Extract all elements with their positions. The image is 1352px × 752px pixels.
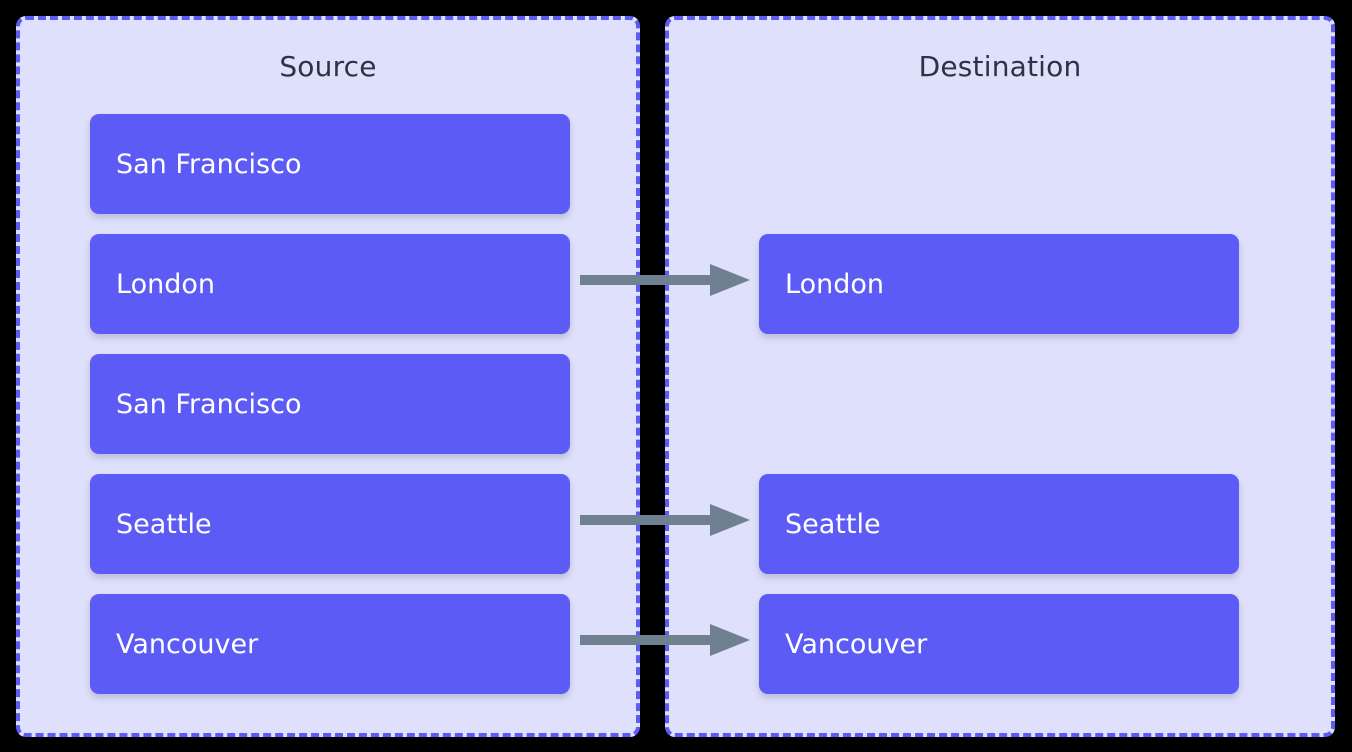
source-card-label: Seattle xyxy=(116,509,212,540)
source-card-label: Vancouver xyxy=(116,629,258,660)
source-card-london[interactable]: London xyxy=(90,234,570,334)
destination-card-seattle[interactable]: Seattle xyxy=(759,474,1239,574)
destination-slot-empty-2 xyxy=(759,354,1239,454)
destination-card-label: London xyxy=(785,269,884,300)
source-card-label: San Francisco xyxy=(116,149,301,180)
source-card-seattle[interactable]: Seattle xyxy=(90,474,570,574)
source-card-san-francisco-2[interactable]: San Francisco xyxy=(90,354,570,454)
destination-card-label: Seattle xyxy=(785,509,881,540)
destination-card-london[interactable]: London xyxy=(759,234,1239,334)
source-card-vancouver[interactable]: Vancouver xyxy=(90,594,570,694)
diagram-canvas: Source San Francisco London San Francisc… xyxy=(0,0,1352,752)
source-card-list: San Francisco London San Francisco Seatt… xyxy=(90,114,570,694)
destination-card-list: London Seattle Vancouver xyxy=(759,114,1239,694)
destination-slot-empty-1 xyxy=(759,114,1239,214)
source-card-label: San Francisco xyxy=(116,389,301,420)
source-panel-title: Source xyxy=(20,50,636,83)
destination-card-vancouver[interactable]: Vancouver xyxy=(759,594,1239,694)
destination-card-label: Vancouver xyxy=(785,629,927,660)
destination-panel: Destination London Seattle Vancouver xyxy=(665,16,1335,737)
source-card-san-francisco-1[interactable]: San Francisco xyxy=(90,114,570,214)
destination-panel-title: Destination xyxy=(669,50,1331,83)
source-card-label: London xyxy=(116,269,215,300)
source-panel: Source San Francisco London San Francisc… xyxy=(16,16,640,737)
